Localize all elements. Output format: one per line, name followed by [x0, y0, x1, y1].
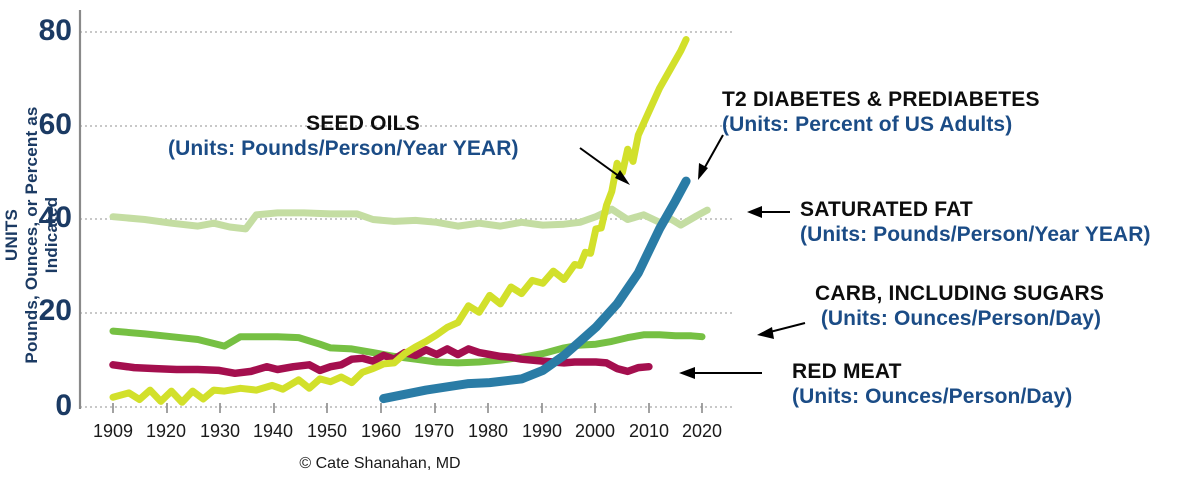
arrow-red-meat	[679, 367, 762, 379]
annotation-carb-title: CARB, INCLUDING SUGARS	[815, 282, 1107, 307]
annotation-red-meat: RED MEAT (Units: Ounces/Person/Day)	[792, 360, 1072, 410]
series-line-carb	[113, 331, 702, 363]
series-lines	[113, 40, 707, 403]
annotation-seed-oils: SEED OILS (Units: Pounds/Person/Year YEA…	[168, 112, 558, 162]
arrow-saturated-fat	[747, 206, 790, 218]
annotation-t2-diabetes-subtitle: (Units: Percent of US Adults)	[722, 113, 1040, 138]
annotation-saturated-fat: SATURATED FAT (Units: Pounds/Person/Year…	[800, 198, 1151, 248]
annotation-seed-oils-subtitle: (Units: Pounds/Person/Year YEAR)	[168, 137, 558, 162]
arrow-carb	[757, 323, 805, 339]
chart-root: UNITS Pounds, Ounces, or Percent as Indi…	[0, 0, 1200, 484]
annotation-t2-diabetes: T2 DIABETES & PREDIABETES (Units: Percen…	[722, 88, 1040, 138]
arrow-t2-diabetes	[698, 135, 723, 180]
series-line-saturated-fat	[113, 209, 707, 229]
credit-line: © Cate Shanahan, MD	[0, 455, 760, 473]
annotation-red-meat-title: RED MEAT	[792, 360, 1072, 385]
annotation-red-meat-subtitle: (Units: Ounces/Person/Day)	[792, 385, 1072, 410]
x-axis-ticks	[113, 403, 702, 413]
annotation-saturated-fat-title: SATURATED FAT	[800, 198, 1151, 223]
annotation-carb-subtitle: (Units: Ounces/Person/Day)	[815, 307, 1107, 332]
annotation-t2-diabetes-title: T2 DIABETES & PREDIABETES	[722, 88, 1040, 113]
annotation-carb: CARB, INCLUDING SUGARS (Units: Ounces/Pe…	[815, 282, 1107, 332]
annotation-saturated-fat-subtitle: (Units: Pounds/Person/Year YEAR)	[800, 223, 1151, 248]
annotation-seed-oils-title: SEED OILS	[168, 112, 558, 137]
